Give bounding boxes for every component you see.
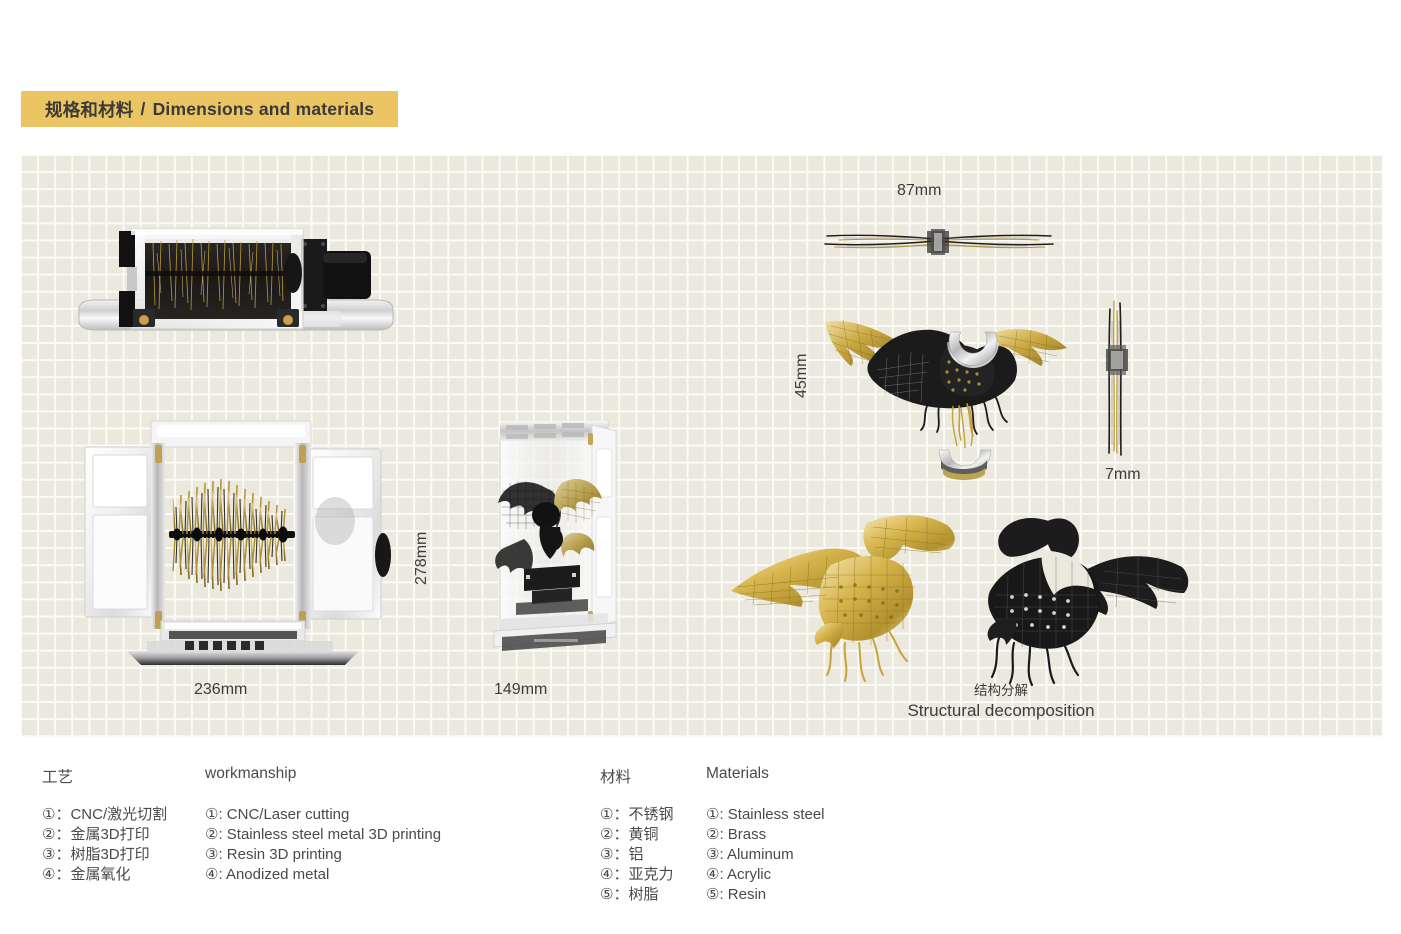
materials-list-cn: ①：不锈钢 ②：黄铜 ③：铝 ④：亚克力 ⑤：树脂 (600, 805, 706, 905)
workmanship-block: 工艺 workmanship ①：CNC/激光切割 ②：金属3D打印 ③：树脂3… (42, 765, 441, 885)
workmanship-item-cn: ③：树脂3D打印 (42, 845, 205, 865)
caption-structural-decomposition: 结构分解 Structural decomposition (781, 682, 1221, 722)
dim-label-87mm: 87mm (897, 182, 941, 200)
materials-item-en: ④: Acrylic (706, 865, 825, 885)
edge-view-wings-side (1096, 295, 1140, 465)
banner-title-en: Dimensions and materials (153, 99, 375, 120)
top-view-cabinet (71, 213, 401, 343)
dim-label-278mm: 278mm (413, 532, 431, 585)
workmanship-list-en: ①: CNC/Laser cutting ②: Stainless steel … (205, 805, 441, 885)
dim-label-236mm: 236mm (194, 681, 247, 699)
caption-cn: 结构分解 (781, 682, 1221, 700)
workmanship-head-en: workmanship (205, 765, 296, 787)
dim-label-149mm: 149mm (494, 681, 547, 699)
workmanship-item-cn: ④：金属氧化 (42, 865, 205, 885)
materials-list-en: ①: Stainless steel ②: Brass ③: Aluminum … (706, 805, 825, 905)
workmanship-item-en: ②: Stainless steel metal 3D printing (205, 825, 441, 845)
workmanship-list-cn: ①：CNC/激光切割 ②：金属3D打印 ③：树脂3D打印 ④：金属氧化 (42, 805, 205, 885)
workmanship-item-en: ①: CNC/Laser cutting (205, 805, 441, 825)
banner-separator: / (141, 99, 146, 120)
materials-item-en: ①: Stainless steel (706, 805, 825, 825)
materials-item-cn: ④：亚克力 (600, 865, 706, 885)
materials-item-en: ③: Aluminum (706, 845, 825, 865)
diagram-panel: 87mm 45mm 7mm 278mm 236mm 149mm 结构分解 Str… (21, 155, 1382, 737)
materials-item-cn: ⑤：树脂 (600, 885, 706, 905)
exploded-black-wing (946, 495, 1196, 695)
materials-item-cn: ②：黄铜 (600, 825, 706, 845)
front-view-cabinet (73, 403, 413, 671)
materials-item-cn: ①：不锈钢 (600, 805, 706, 825)
workmanship-head-cn: 工艺 (42, 765, 205, 787)
materials-head-en: Materials (706, 765, 769, 787)
side-view-cabinet (476, 405, 644, 667)
caption-en: Structural decomposition (781, 700, 1221, 722)
workmanship-item-cn: ①：CNC/激光切割 (42, 805, 205, 825)
edge-view-wings-top (801, 225, 1073, 259)
dim-label-45mm: 45mm (793, 354, 811, 398)
materials-item-en: ②: Brass (706, 825, 825, 845)
workmanship-item-en: ④: Anodized metal (205, 865, 441, 885)
dim-label-7mm: 7mm (1105, 466, 1141, 484)
section-banner: 规格和材料 / Dimensions and materials (21, 91, 398, 127)
workmanship-item-cn: ②：金属3D打印 (42, 825, 205, 845)
materials-item-en: ⑤: Resin (706, 885, 825, 905)
materials-item-cn: ③：铝 (600, 845, 706, 865)
banner-title-cn: 规格和材料 (45, 97, 134, 122)
exploded-gold-wing (721, 495, 971, 695)
materials-head-cn: 材料 (600, 765, 706, 787)
workmanship-item-en: ③: Resin 3D printing (205, 845, 441, 865)
exploded-wing-assembly (821, 300, 1083, 505)
materials-block: 材料 Materials ①：不锈钢 ②：黄铜 ③：铝 ④：亚克力 ⑤：树脂 ①… (600, 765, 825, 905)
